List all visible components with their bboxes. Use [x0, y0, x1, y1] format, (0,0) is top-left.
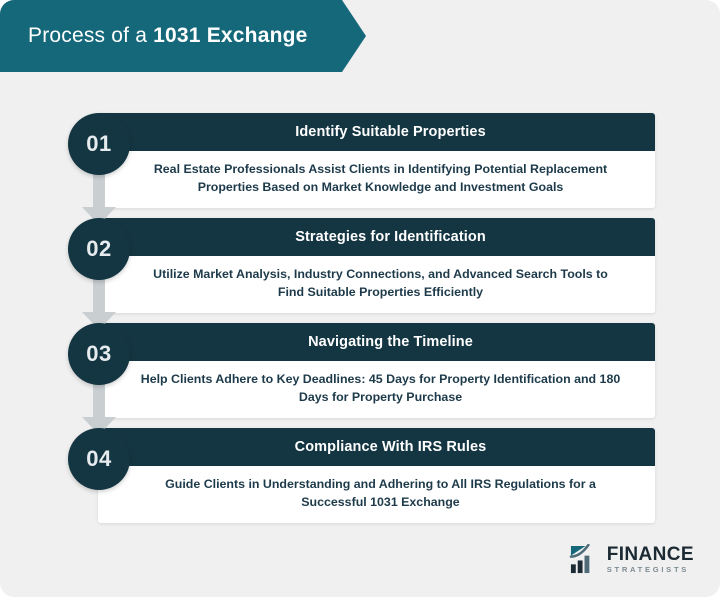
step-card: Navigating the TimelineHelp Clients Adhe… — [98, 323, 655, 418]
brand-tagline: STRATEGISTS — [607, 566, 694, 574]
step-title-bar: Identify Suitable Properties — [98, 113, 655, 151]
header-banner: Process of a 1031 Exchange — [0, 0, 366, 72]
step-title: Strategies for Identification — [295, 229, 486, 245]
page-title-prefix: Process of a — [28, 24, 153, 47]
infographic-canvas: Process of a 1031 Exchange Identify Suit… — [0, 0, 720, 597]
step-description: Utilize Market Analysis, Industry Connec… — [140, 266, 621, 302]
step-number-badge: 02 — [68, 218, 130, 280]
step-title: Navigating the Timeline — [308, 334, 473, 350]
step-description-area: Real Estate Professionals Assist Clients… — [98, 151, 655, 208]
step-card: Identify Suitable PropertiesReal Estate … — [98, 113, 655, 208]
process-step: Identify Suitable PropertiesReal Estate … — [0, 107, 720, 212]
step-title-bar: Compliance With IRS Rules — [98, 428, 655, 466]
brand-logo: FINANCE STRATEGISTS — [569, 544, 694, 575]
step-number-badge: 03 — [68, 323, 130, 385]
page-title-highlight: 1031 Exchange — [153, 24, 307, 47]
step-description: Guide Clients in Understanding and Adher… — [140, 476, 621, 512]
process-step: Navigating the TimelineHelp Clients Adhe… — [0, 317, 720, 422]
page-title: Process of a 1031 Exchange — [0, 24, 348, 48]
step-card: Strategies for IdentificationUtilize Mar… — [98, 218, 655, 313]
step-title-bar: Navigating the Timeline — [98, 323, 655, 361]
process-step: Strategies for IdentificationUtilize Mar… — [0, 212, 720, 317]
step-number-badge: 04 — [68, 428, 130, 490]
step-title-bar: Strategies for Identification — [98, 218, 655, 256]
brand-logo-text: FINANCE STRATEGISTS — [607, 545, 694, 574]
step-description-area: Utilize Market Analysis, Industry Connec… — [98, 256, 655, 313]
step-description-area: Guide Clients in Understanding and Adher… — [98, 466, 655, 523]
step-card: Compliance With IRS RulesGuide Clients i… — [98, 428, 655, 523]
process-step: Compliance With IRS RulesGuide Clients i… — [0, 422, 720, 527]
bar-chart-arrow-icon — [569, 544, 600, 575]
step-description: Real Estate Professionals Assist Clients… — [140, 161, 621, 197]
step-description-area: Help Clients Adhere to Key Deadlines: 45… — [98, 361, 655, 418]
step-description: Help Clients Adhere to Key Deadlines: 45… — [140, 371, 621, 407]
step-title: Identify Suitable Properties — [295, 124, 486, 140]
process-step-list: Identify Suitable PropertiesReal Estate … — [0, 107, 720, 527]
step-title: Compliance With IRS Rules — [295, 439, 487, 455]
brand-name: FINANCE — [607, 545, 694, 564]
step-number-badge: 01 — [68, 113, 130, 175]
